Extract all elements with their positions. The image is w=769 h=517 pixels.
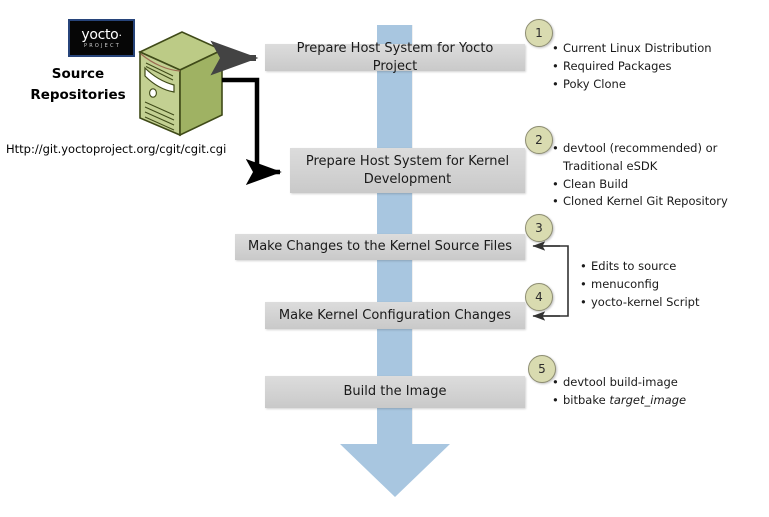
process-box-step4[interactable]: Make Kernel Configuration Changes [265,302,525,329]
list-item: Cloned Kernel Git Repository [552,193,737,211]
list-item: devtool build-image [552,374,752,392]
bitbake-prefix: bitbake [563,393,609,407]
logo-dot: · [118,29,121,42]
list-item: yocto-kernel Script [580,294,755,312]
logo-word-text: yocto [81,27,118,43]
bullet-list-step3-step4: Edits to source menuconfig yocto-kernel … [580,258,755,311]
bullet-list-step2: devtool (recommended) or Traditional eSD… [552,140,737,211]
process-box-step5[interactable]: Build the Image [265,376,525,408]
list-item: Clean Build [552,176,737,194]
process-box-step1[interactable]: Prepare Host System for Yocto Project [265,44,525,71]
list-item: Required Packages [552,58,752,76]
list-item: menuconfig [580,276,755,294]
diagram-canvas: yocto· PROJECT Source Repositories Http:… [0,0,769,517]
connector-server-to-step2 [222,80,280,172]
server-tower-icon [135,30,225,140]
flow-arrow-head [340,444,450,497]
step-badge-2: 2 [525,126,553,154]
bullet-list-step1: Current Linux Distribution Required Pack… [552,40,752,93]
bullet-list-step5: devtool build-image bitbake target_image [552,374,752,410]
bitbake-target-image: target_image [609,393,686,407]
step-badge-1: 1 [525,19,553,47]
source-repositories-url: Http://git.yoctoproject.org/cgit/cgit.cg… [6,142,226,156]
list-item: Current Linux Distribution [552,40,752,58]
logo-wordmark: yocto· [81,28,121,42]
list-item: devtool (recommended) or Traditional eSD… [552,140,737,176]
source-repositories-label: Source Repositories [18,64,138,106]
list-item: Edits to source [580,258,755,276]
logo-subtext: PROJECT [82,44,121,49]
process-box-step3[interactable]: Make Changes to the Kernel Source Files [235,234,525,260]
list-item: bitbake target_image [552,392,752,410]
process-box-step2[interactable]: Prepare Host System for Kernel Developme… [290,148,525,193]
yocto-project-logo: yocto· PROJECT [68,19,135,57]
list-item: Poky Clone [552,76,752,94]
step-badge-3: 3 [525,214,553,242]
step-badge-4: 4 [525,283,553,311]
